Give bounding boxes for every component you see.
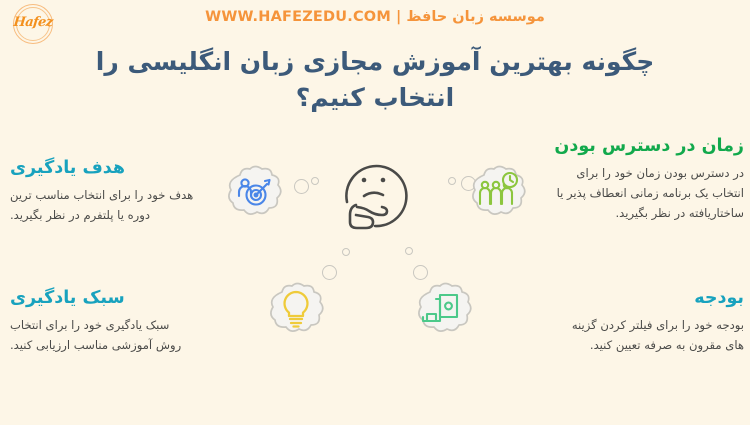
section-budget: بودجه بودجه خود را برای فیلتر کردن گزینه… xyxy=(552,288,744,356)
cloud-bubble-time xyxy=(466,163,530,223)
thinking-face-icon xyxy=(331,150,423,238)
thought-dot xyxy=(342,248,350,256)
cloud-bubble-budget xyxy=(412,280,476,340)
site-title: موسسه زبان حافظ | WWW.HAFEZEDU.COM xyxy=(0,9,750,25)
section-budget-body: بودجه خود را برای فیلتر کردن گزینه های م… xyxy=(552,316,744,356)
section-time-body: در دسترس بودن زمان خود را برای انتخاب یک… xyxy=(552,164,744,224)
section-time: زمان در دسترس بودن در دسترس بودن زمان خو… xyxy=(552,136,744,224)
section-goal-heading: هدف یادگیری xyxy=(10,158,198,180)
thought-dot xyxy=(311,177,319,185)
section-goal-body: هدف خود را برای انتخاب مناسب ترین دوره ی… xyxy=(10,186,198,226)
cloud-bubble-style xyxy=(264,280,328,340)
section-budget-heading: بودجه xyxy=(552,288,744,310)
section-goal: هدف یادگیری هدف خود را برای انتخاب مناسب… xyxy=(10,158,198,226)
cloud-bubble-goal xyxy=(222,163,286,223)
thought-dot xyxy=(405,247,413,255)
thought-dot xyxy=(322,265,337,280)
infographic-canvas: Hafez موسسه زبان حافظ | WWW.HAFEZEDU.COM… xyxy=(0,0,750,425)
section-style-heading: سبک یادگیری xyxy=(10,288,198,310)
page-title: چگونه بهترین آموزش مجازی زبان انگلیسی را… xyxy=(55,44,695,115)
thought-dot xyxy=(294,179,309,194)
section-style-body: سبک یادگیری خود را برای انتخاب روش آموزش… xyxy=(10,316,198,356)
thought-dot xyxy=(448,177,456,185)
section-time-heading: زمان در دسترس بودن xyxy=(552,136,744,158)
section-style: سبک یادگیری سبک یادگیری خود را برای انتخ… xyxy=(10,288,198,356)
header-bar: Hafez موسسه زبان حافظ | WWW.HAFEZEDU.COM xyxy=(0,0,750,46)
thought-dot xyxy=(413,265,428,280)
